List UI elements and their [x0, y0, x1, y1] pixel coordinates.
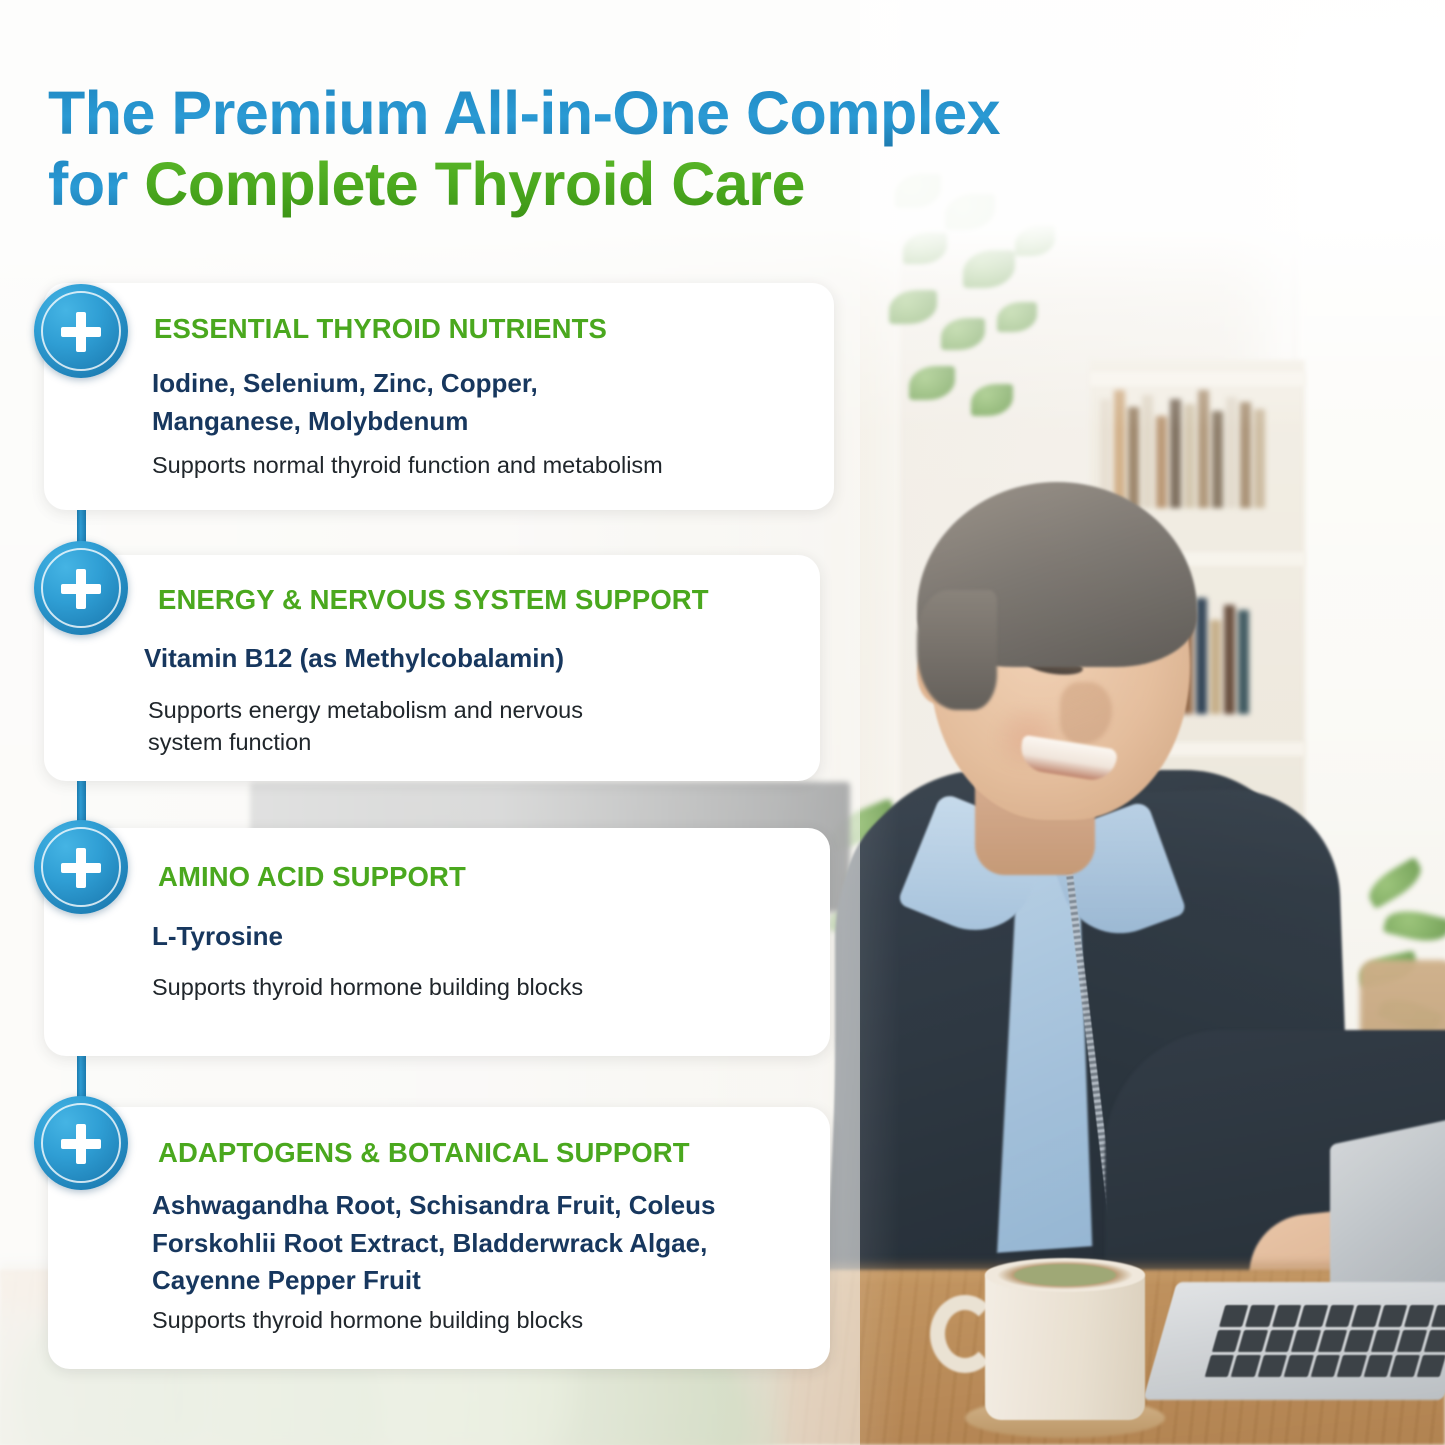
card-2-heading: ENERGY & NERVOUS SYSTEM SUPPORT: [158, 584, 709, 616]
card-4-ingredients: Ashwagandha Root, Schisandra Fruit, Cole…: [152, 1187, 812, 1300]
headline-line-2-prefix: for: [48, 150, 144, 218]
card-2-ingredients: Vitamin B12 (as Methylcobalamin): [144, 640, 794, 678]
infographic-canvas: The Premium All-in-One Complex for Compl…: [0, 0, 1445, 1445]
laptop-keyboard: [1205, 1305, 1445, 1377]
plus-icon: [76, 1124, 86, 1164]
headline-line-2: for Complete Thyroid Care: [48, 149, 1288, 220]
plus-badge-3[interactable]: [34, 820, 128, 914]
headline-line-1: The Premium All-in-One Complex: [48, 78, 1288, 149]
feature-card-4: ADAPTOGENS & BOTANICAL SUPPORT Ashwagand…: [48, 1107, 830, 1369]
feature-card-2: ENERGY & NERVOUS SYSTEM SUPPORT Vitamin …: [44, 555, 820, 781]
feature-card-3: AMINO ACID SUPPORT L-Tyrosine Supports t…: [44, 828, 830, 1056]
plus-badge-2[interactable]: [34, 541, 128, 635]
card-3-benefit: Supports thyroid hormone building blocks: [152, 971, 812, 1003]
card-2-benefit: Supports energy metabolism and nervous s…: [148, 694, 778, 758]
card-1-ingredients: Iodine, Selenium, Zinc, Copper, Manganes…: [152, 365, 792, 440]
feature-card-1: ESSENTIAL THYROID NUTRIENTS Iodine, Sele…: [44, 283, 834, 510]
card-3-ingredients: L-Tyrosine: [152, 918, 792, 956]
page-title: The Premium All-in-One Complex for Compl…: [48, 78, 1288, 220]
card-4-heading: ADAPTOGENS & BOTANICAL SUPPORT: [158, 1137, 690, 1169]
plus-badge-4[interactable]: [34, 1096, 128, 1190]
card-1-benefit: Supports normal thyroid function and met…: [152, 449, 812, 481]
card-1-heading: ESSENTIAL THYROID NUTRIENTS: [154, 313, 607, 345]
mug-tea: [985, 1258, 1145, 1292]
card-4-benefit: Supports thyroid hormone building blocks: [152, 1304, 812, 1336]
plus-icon: [76, 569, 86, 609]
hair-side: [917, 590, 997, 710]
shelf-board: [1090, 372, 1305, 386]
plus-icon: [76, 312, 86, 352]
plus-badge-1[interactable]: [34, 284, 128, 378]
card-3-heading: AMINO ACID SUPPORT: [158, 861, 466, 893]
headline-line-2-highlight: Complete Thyroid Care: [144, 150, 805, 218]
plus-icon: [76, 848, 86, 888]
